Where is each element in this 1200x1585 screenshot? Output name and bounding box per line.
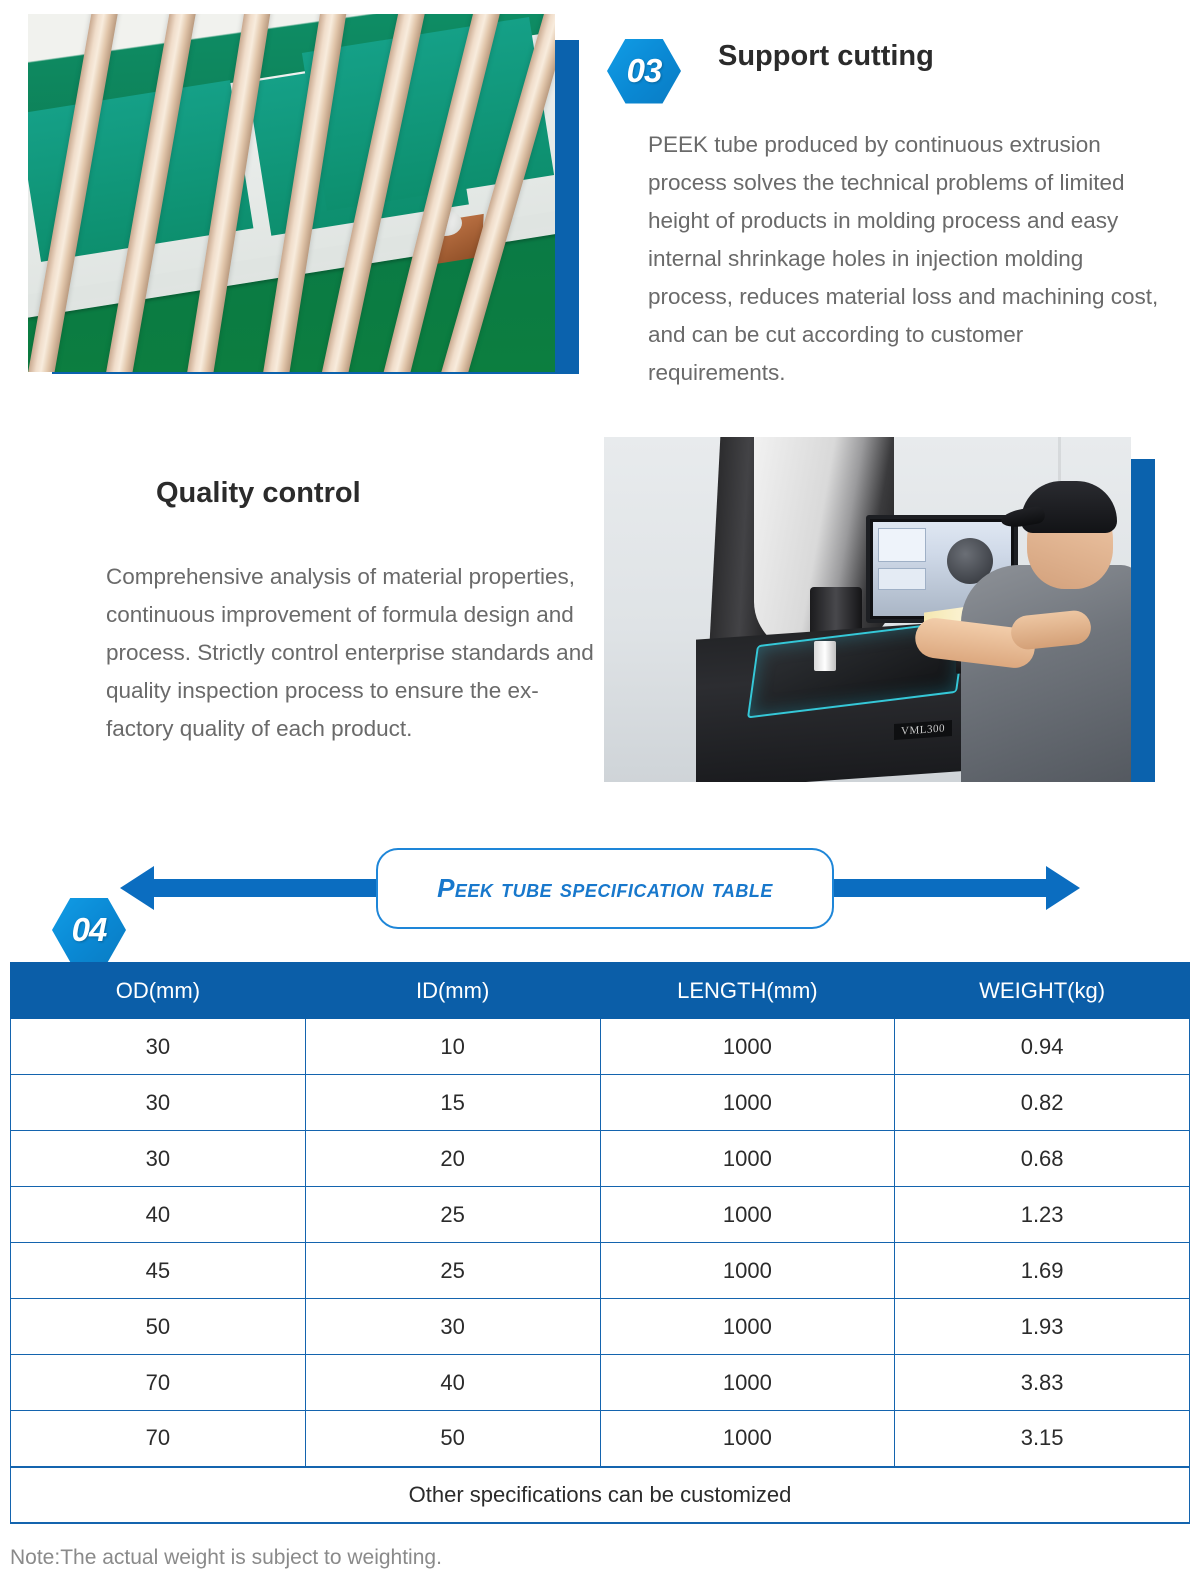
photo-peek-tubes (28, 14, 555, 372)
table-row: 30 15 1000 0.82 (11, 1075, 1190, 1131)
sample-part (814, 641, 836, 671)
cell-id: 40 (305, 1355, 600, 1411)
cell-id: 50 (305, 1411, 600, 1467)
cell-id: 10 (305, 1019, 600, 1075)
cell-length: 1000 (600, 1243, 895, 1299)
cell-weight: 1.93 (895, 1299, 1190, 1355)
cell-length: 1000 (600, 1187, 895, 1243)
cell-length: 1000 (600, 1131, 895, 1187)
badge-03: 03 (600, 32, 688, 110)
section-body-quality-control: Comprehensive analysis of material prope… (106, 558, 596, 748)
divider-label-box: Peek tube specification table (376, 848, 834, 929)
table-row: 50 30 1000 1.93 (11, 1299, 1190, 1355)
arrow-left-icon (120, 866, 154, 910)
table-row: 30 10 1000 0.94 (11, 1019, 1190, 1075)
column-header-id: ID(mm) (305, 963, 600, 1019)
cell-od: 70 (11, 1411, 306, 1467)
cell-od: 30 (11, 1019, 306, 1075)
table-footer-row: Other specifications can be customized (11, 1467, 1190, 1523)
cell-weight: 1.23 (895, 1187, 1190, 1243)
cell-length: 1000 (600, 1355, 895, 1411)
table-row: 40 25 1000 1.23 (11, 1187, 1190, 1243)
cell-weight: 0.82 (895, 1075, 1190, 1131)
cell-id: 30 (305, 1299, 600, 1355)
cell-length: 1000 (600, 1075, 895, 1131)
cell-weight: 3.15 (895, 1411, 1190, 1467)
cell-od: 40 (11, 1187, 306, 1243)
table-row: 70 40 1000 3.83 (11, 1355, 1190, 1411)
cell-weight: 3.83 (895, 1355, 1190, 1411)
software-panel (878, 568, 926, 590)
cell-id: 25 (305, 1243, 600, 1299)
section-quality-control: VML300 04 Quality control Comprehensive … (0, 430, 1200, 830)
table-row: 30 20 1000 0.68 (11, 1131, 1190, 1187)
section-body-support-cutting: PEEK tube produced by continuous extrusi… (648, 126, 1160, 392)
table-row: 70 50 1000 3.15 (11, 1411, 1190, 1467)
cell-weight: 0.94 (895, 1019, 1190, 1075)
cell-id: 15 (305, 1075, 600, 1131)
cell-od: 50 (11, 1299, 306, 1355)
column-header-od: OD(mm) (11, 963, 306, 1019)
cell-length: 1000 (600, 1019, 895, 1075)
section-support-cutting: 03 Support cutting PEEK tube produced by… (0, 0, 1200, 430)
cell-length: 1000 (600, 1411, 895, 1467)
cell-od: 30 (11, 1075, 306, 1131)
photo-quality-inspection: VML300 (604, 437, 1131, 782)
spec-table: OD(mm) ID(mm) LENGTH(mm) WEIGHT(kg) 30 1… (10, 962, 1190, 1524)
section-title-quality-control: Quality control (156, 477, 361, 510)
badge-number: 03 (600, 32, 688, 110)
table-footer-note: Other specifications can be customized (11, 1467, 1190, 1523)
cell-od: 45 (11, 1243, 306, 1299)
cell-weight: 0.68 (895, 1131, 1190, 1187)
cell-weight: 1.69 (895, 1243, 1190, 1299)
cell-od: 30 (11, 1131, 306, 1187)
table-header-row: OD(mm) ID(mm) LENGTH(mm) WEIGHT(kg) (11, 963, 1190, 1019)
operator-body (961, 565, 1131, 782)
divider-title: Peek tube specification table (437, 873, 773, 904)
cell-id: 20 (305, 1131, 600, 1187)
column-header-weight: WEIGHT(kg) (895, 963, 1190, 1019)
cell-od: 70 (11, 1355, 306, 1411)
section-title-support-cutting: Support cutting (718, 40, 934, 73)
weight-note: Note:The actual weight is subject to wei… (10, 1546, 442, 1570)
cell-length: 1000 (600, 1299, 895, 1355)
column-header-length: LENGTH(mm) (600, 963, 895, 1019)
arrow-right-icon (1046, 866, 1080, 910)
cell-id: 25 (305, 1187, 600, 1243)
software-panel (878, 528, 926, 562)
table-row: 45 25 1000 1.69 (11, 1243, 1190, 1299)
